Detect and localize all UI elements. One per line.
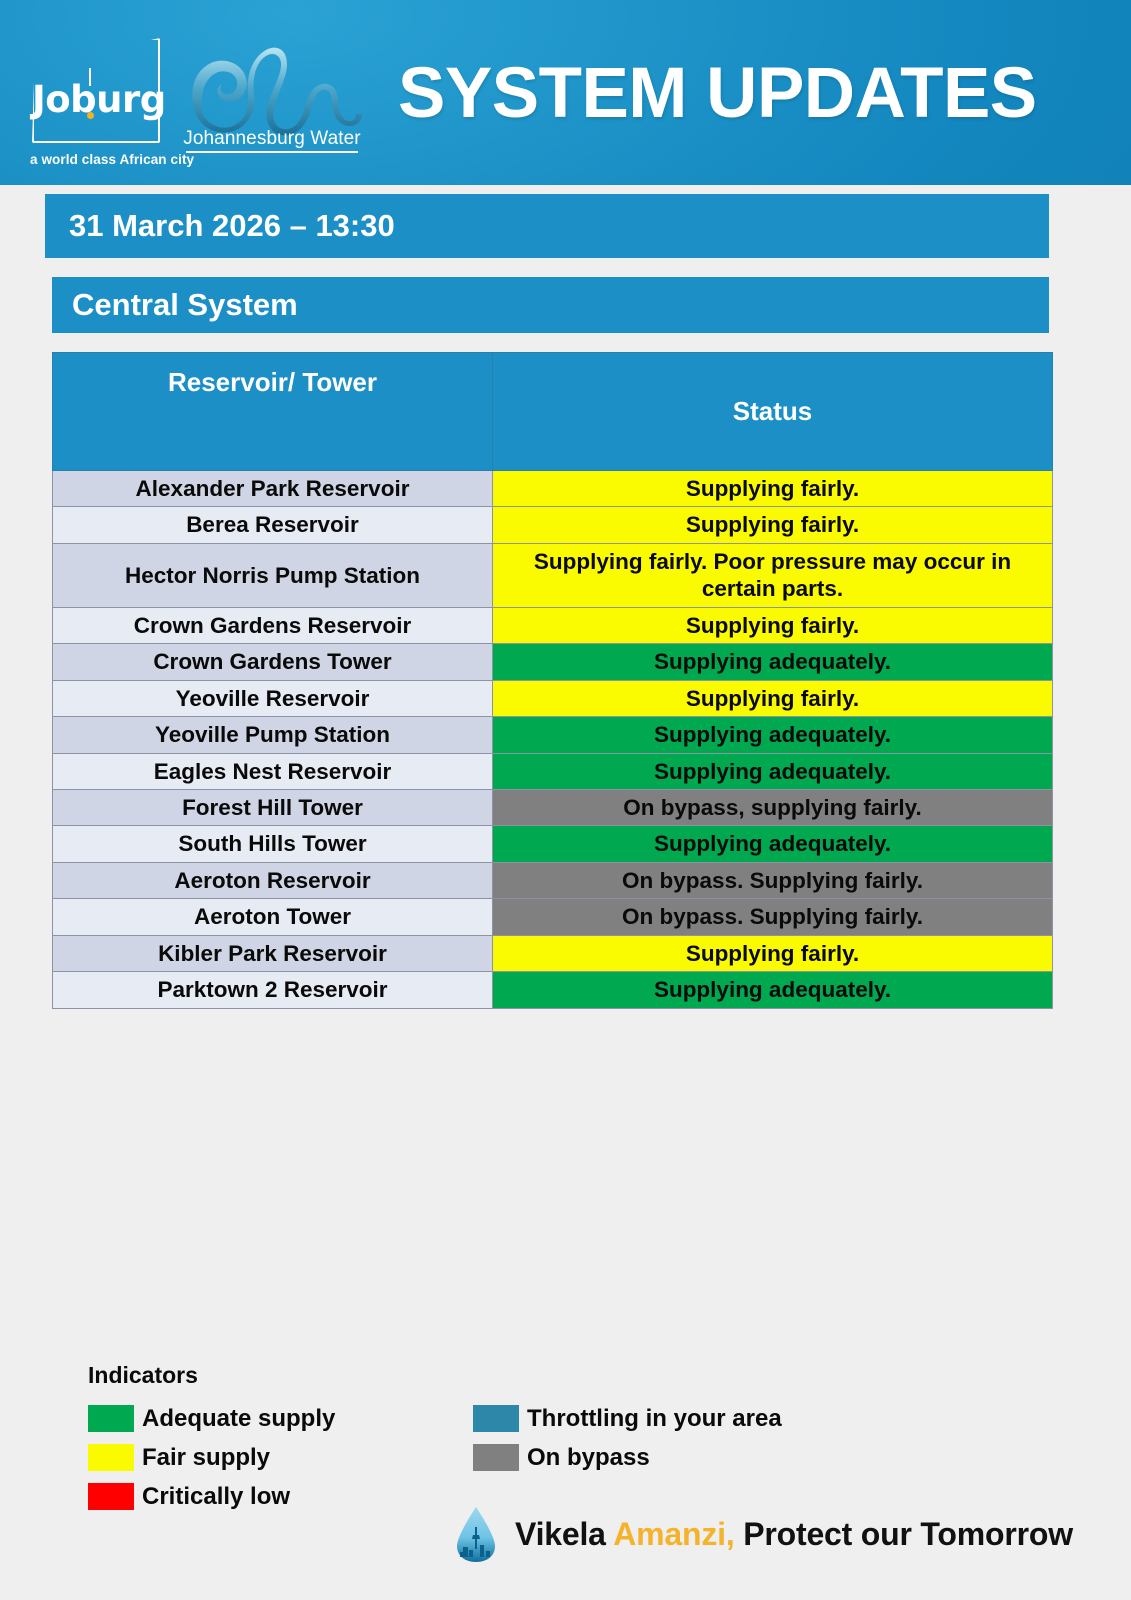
column-header-status: Status <box>493 353 1053 471</box>
water-drop-icon <box>455 1505 497 1563</box>
table-row: Parktown 2 ReservoirSupplying adequately… <box>53 972 1053 1008</box>
cell-status: Supplying fairly. Poor pressure may occu… <box>493 543 1053 607</box>
cell-status: Supplying fairly. <box>493 471 1053 507</box>
legend-item: On bypass <box>473 1438 933 1477</box>
status-table: Reservoir/ Tower Status Alexander Park R… <box>52 352 1053 1009</box>
table-header-row: Reservoir/ Tower Status <box>53 353 1053 471</box>
cell-reservoir-name: South Hills Tower <box>53 826 493 862</box>
cell-status: Supplying adequately. <box>493 717 1053 753</box>
table-row: Yeoville Pump StationSupplying adequatel… <box>53 717 1053 753</box>
johannesburg-water-wordmark: Johannesburg Water <box>182 128 362 150</box>
indicators-legend: Indicators Adequate supplyFair supplyCri… <box>88 1362 1068 1516</box>
cell-status: Supplying adequately. <box>493 753 1053 789</box>
jw-underline <box>186 151 358 153</box>
date-bar: 31 March 2026 – 13:30 <box>45 194 1049 258</box>
cell-reservoir-name: Forest Hill Tower <box>53 789 493 825</box>
footer-tagline: Vikela Amanzi, Protect our Tomorrow <box>455 1505 1073 1563</box>
legend-label: Fair supply <box>142 1444 270 1472</box>
cell-reservoir-name: Hector Norris Pump Station <box>53 543 493 607</box>
table-row: Aeroton TowerOn bypass. Supplying fairly… <box>53 899 1053 935</box>
legend-label: Throttling in your area <box>527 1405 782 1433</box>
cell-reservoir-name: Crown Gardens Tower <box>53 644 493 680</box>
table-row: Alexander Park ReservoirSupplying fairly… <box>53 471 1053 507</box>
table-row: Kibler Park ReservoirSupplying fairly. <box>53 935 1053 971</box>
table-row: South Hills TowerSupplying adequately. <box>53 826 1053 862</box>
cell-status: Supplying adequately. <box>493 826 1053 862</box>
legend-item: Throttling in your area <box>473 1399 933 1438</box>
footer-text: Vikela Amanzi, Protect our Tomorrow <box>515 1516 1073 1553</box>
footer-text-before: Vikela <box>515 1516 613 1552</box>
legend-label: Adequate supply <box>142 1405 335 1433</box>
cell-reservoir-name: Yeoville Reservoir <box>53 680 493 716</box>
legend-label: Critically low <box>142 1483 290 1511</box>
joburg-tagline: a world class African city <box>30 152 194 167</box>
legend-column-right: Throttling in your areaOn bypass <box>473 1399 933 1516</box>
status-table-wrapper: Reservoir/ Tower Status Alexander Park R… <box>52 352 1052 1009</box>
table-row: Aeroton ReservoirOn bypass. Supplying fa… <box>53 862 1053 898</box>
legend-swatch-icon <box>88 1444 134 1471</box>
joburg-logo: Joburg <box>32 38 160 143</box>
legend-column-left: Adequate supplyFair supplyCritically low <box>88 1399 473 1516</box>
cell-reservoir-name: Alexander Park Reservoir <box>53 471 493 507</box>
legend-swatch-icon <box>473 1444 519 1471</box>
table-row: Eagles Nest ReservoirSupplying adequatel… <box>53 753 1053 789</box>
legend-swatch-icon <box>88 1483 134 1510</box>
table-row: Berea ReservoirSupplying fairly. <box>53 507 1053 543</box>
legend-swatch-icon <box>88 1405 134 1432</box>
page-banner: Joburg a world class African city Johann… <box>0 0 1131 185</box>
legend-item: Adequate supply <box>88 1399 473 1438</box>
cell-status: Supplying adequately. <box>493 972 1053 1008</box>
cell-status: On bypass. Supplying fairly. <box>493 862 1053 898</box>
cell-status: On bypass. Supplying fairly. <box>493 899 1053 935</box>
cell-status: Supplying adequately. <box>493 644 1053 680</box>
cell-status: Supplying fairly. <box>493 507 1053 543</box>
joburg-dot-icon <box>87 112 94 119</box>
cell-reservoir-name: Berea Reservoir <box>53 507 493 543</box>
cell-reservoir-name: Kibler Park Reservoir <box>53 935 493 971</box>
table-row: Hector Norris Pump StationSupplying fair… <box>53 543 1053 607</box>
cell-reservoir-name: Crown Gardens Reservoir <box>53 607 493 643</box>
table-row: Yeoville ReservoirSupplying fairly. <box>53 680 1053 716</box>
column-header-reservoir: Reservoir/ Tower <box>53 353 493 471</box>
cell-reservoir-name: Parktown 2 Reservoir <box>53 972 493 1008</box>
footer-highlight: Amanzi, <box>613 1516 734 1552</box>
table-row: Crown Gardens ReservoirSupplying fairly. <box>53 607 1053 643</box>
legend-label: On bypass <box>527 1444 650 1472</box>
system-name-bar: Central System <box>52 277 1049 333</box>
table-row: Crown Gardens TowerSupplying adequately. <box>53 644 1053 680</box>
footer-text-after: Protect our Tomorrow <box>735 1516 1073 1552</box>
cell-status: Supplying fairly. <box>493 607 1053 643</box>
table-row: Forest Hill TowerOn bypass, supplying fa… <box>53 789 1053 825</box>
cell-status: Supplying fairly. <box>493 935 1053 971</box>
cell-status: Supplying fairly. <box>493 680 1053 716</box>
status-table-body: Alexander Park ReservoirSupplying fairly… <box>53 471 1053 1009</box>
legend-item: Fair supply <box>88 1438 473 1477</box>
legend-swatch-icon <box>473 1405 519 1432</box>
cell-reservoir-name: Yeoville Pump Station <box>53 717 493 753</box>
cell-status: On bypass, supplying fairly. <box>493 789 1053 825</box>
joburg-wordmark: Joburg <box>32 78 160 121</box>
cell-reservoir-name: Eagles Nest Reservoir <box>53 753 493 789</box>
page-title: SYSTEM UPDATES <box>398 58 1037 129</box>
legend-item: Critically low <box>88 1477 473 1516</box>
system-updates-page: Joburg a world class African city Johann… <box>0 0 1131 1600</box>
cell-reservoir-name: Aeroton Tower <box>53 899 493 935</box>
cell-reservoir-name: Aeroton Reservoir <box>53 862 493 898</box>
legend-title: Indicators <box>88 1362 1068 1389</box>
